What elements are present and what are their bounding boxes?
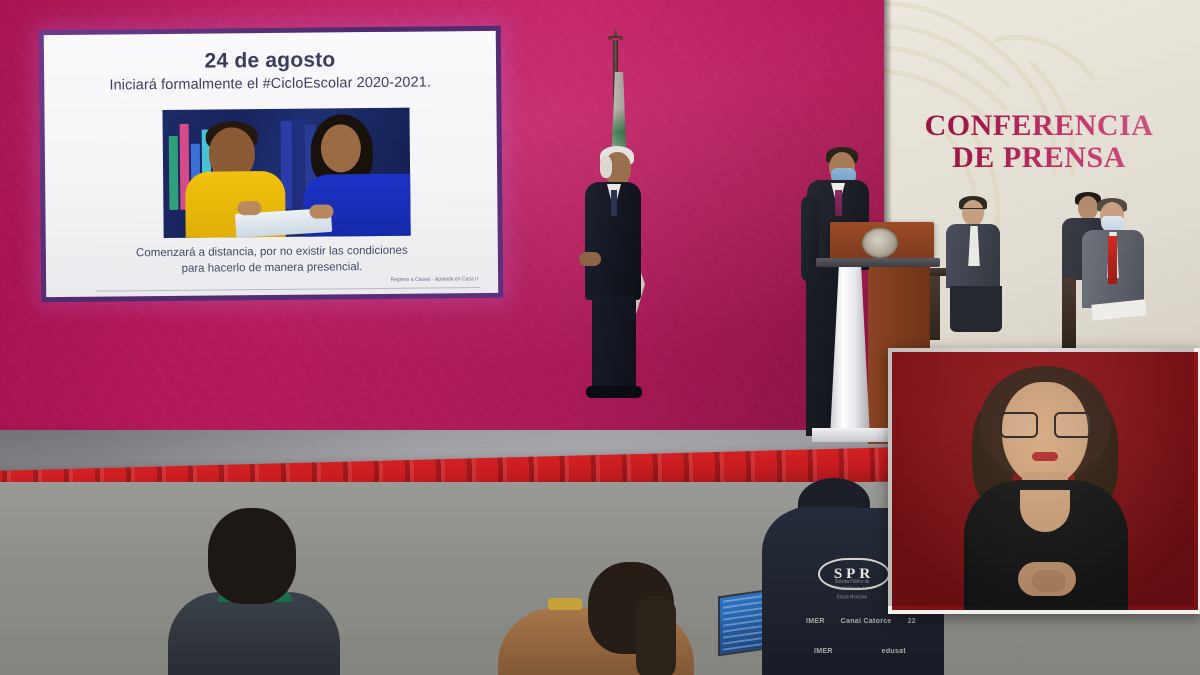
president-shoes [586,386,642,398]
partner-logo-edusat: edusat [882,648,906,655]
projection-screen: 24 de agosto Iniciará formalmente el #Ci… [39,26,504,302]
boy-hand [237,201,261,215]
woman-hand [309,204,333,218]
slide-surface: 24 de agosto Iniciará formalmente el #Ci… [44,31,498,297]
slide-footer-rule [96,287,480,292]
broadcast-frame: CONFERENCIA DE PRENSA 24 de agosto Inici… [0,0,1200,675]
slide-title: 24 de agosto [44,47,496,75]
partner-logo-imer-2: IMER [814,648,833,655]
woman-head [321,124,361,172]
slide-subtitle: Iniciará formalmente el #CicloEscolar 20… [44,74,496,94]
president-hands [579,252,601,266]
spr-sub-line-2: Radiodifusión del [818,586,886,594]
audience-left-torso [168,592,340,675]
podium-base [812,428,888,442]
sign-language-interpreter-inset [888,348,1200,614]
audience-center-arm [636,596,676,675]
chair-back-3 [1062,278,1076,348]
spr-sub-line-3: Estado Mexicano [818,594,886,602]
slide-caption: Comenzará a distancia, por no existir la… [60,243,484,278]
spr-sub-line-1: Sistema Público de [818,579,886,587]
podium-shelf [816,258,940,267]
official-1-legs [950,286,1002,332]
mexican-national-emblem-icon [862,228,898,258]
president-hair-side [600,156,612,178]
slide-footer-text: Regreso a Clases · Aprende en Casa II [391,275,478,282]
spr-partner-logos-row-2: IMER edusat [814,648,906,655]
slide-photo [162,108,410,238]
press-title-line-1: CONFERENCIA [884,110,1194,142]
audience-left-head [208,508,296,604]
president-legs [592,296,636,392]
flag-finial-icon [608,28,623,50]
partner-logo-canal-catorce: Canal Catorce [841,618,892,625]
interpreter-hands-overlap [1032,570,1066,592]
official-1-glasses [960,208,986,214]
press-title-line-2: DE PRENSA [884,142,1194,174]
interpreter-glasses-icon [1000,412,1092,434]
official-3-tie [1108,236,1117,284]
president-tie [611,190,617,216]
audience-center-epaulet [548,598,582,610]
spr-partner-logos-row-1: IMER Canal Catorce 22 [806,618,916,625]
partner-logo-canal-22: 22 [908,618,916,625]
interpreter-lips [1032,452,1058,461]
official-2-head [1078,196,1098,220]
press-conference-title: CONFERENCIA DE PRENSA [884,110,1194,175]
speaker-tie [835,190,842,216]
spr-logo-subtitle: Sistema Público de Radiodifusión del Est… [818,579,886,602]
partner-logo-imer: IMER [806,618,825,625]
